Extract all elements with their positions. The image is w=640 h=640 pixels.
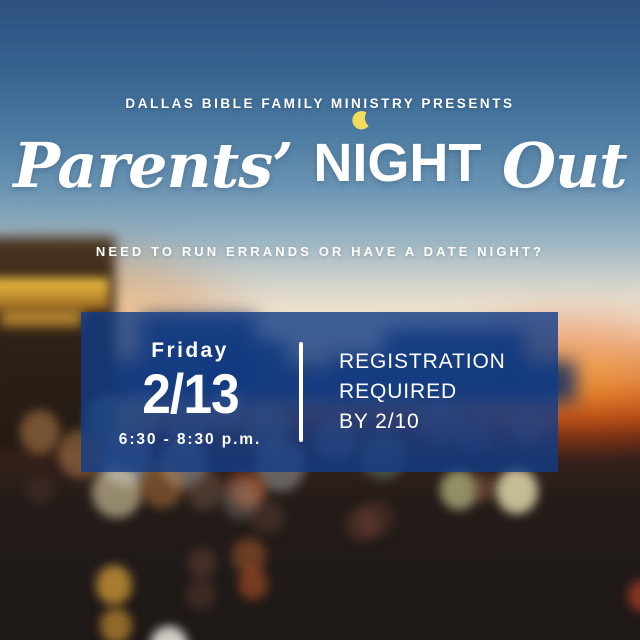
event-details-panel: Friday 2/13 6:30 - 8:30 p.m. REGISTRATIO…	[81, 312, 558, 472]
event-date: 2/13	[142, 365, 239, 422]
title-block-n: N	[313, 133, 352, 193]
date-block: Friday 2/13 6:30 - 8:30 p.m.	[81, 312, 299, 472]
title-block-i-letter: I	[352, 133, 367, 193]
crescent-moon-icon	[348, 109, 372, 133]
registration-block: REGISTRATION REQUIRED BY 2/10	[303, 312, 558, 472]
event-day: Friday	[151, 339, 228, 363]
registration-line-3: BY 2/10	[339, 407, 558, 437]
title-block-ght: GHT	[367, 133, 481, 193]
poster-subhead: NEED TO RUN ERRANDS OR HAVE A DATE NIGHT…	[0, 244, 640, 259]
poster-content: DALLAS BIBLE FAMILY MINISTRY PRESENTS Pa…	[0, 0, 640, 640]
parents-night-out-flyer: DALLAS BIBLE FAMILY MINISTRY PRESENTS Pa…	[0, 0, 640, 640]
presenter-eyebrow: DALLAS BIBLE FAMILY MINISTRY PRESENTS	[0, 96, 640, 111]
page-title: Parents’ NIGHT Out	[0, 131, 640, 193]
registration-line-2: REQUIRED	[339, 377, 558, 407]
event-time: 6:30 - 8:30 p.m.	[119, 431, 261, 449]
registration-line-1: REGISTRATION	[339, 347, 558, 377]
title-block-i: I	[352, 136, 367, 190]
title-script-part3: Out	[481, 129, 626, 202]
title-script-part1: Parents’	[13, 129, 313, 202]
